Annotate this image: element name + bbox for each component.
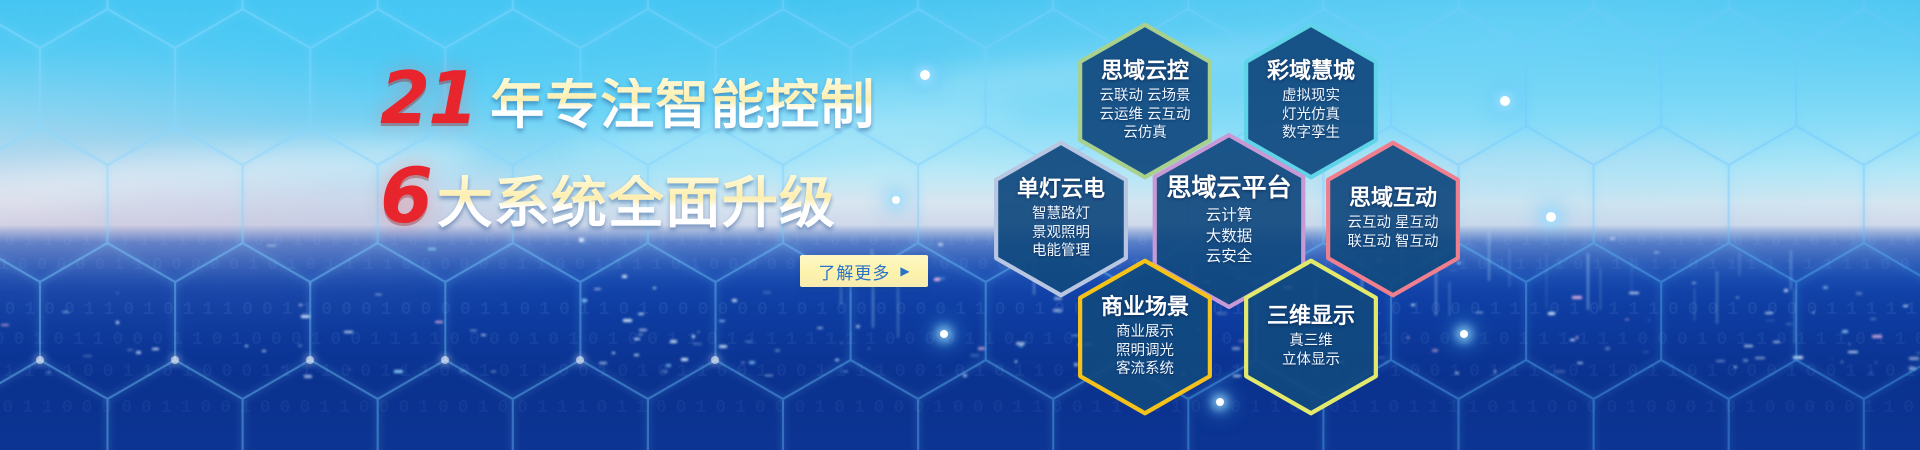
hex-card-shangye-changjing[interactable]: 商业场景商业展示照明调光客流系统 xyxy=(1076,258,1214,416)
hex-title: 思域互动 xyxy=(1347,186,1438,209)
headline-block: 21 年专注智能控制 6 大系统全面升级 xyxy=(380,62,1020,234)
hex-sub-line: 云联动 云场景 xyxy=(1099,87,1190,106)
headline-text-upgrade: 大系统全面升级 xyxy=(437,175,836,231)
hex-sub-lines: 真三维立体显示 xyxy=(1267,332,1355,370)
hex-sub-line: 景观照明 xyxy=(1017,224,1105,243)
headline-number-systems: 6 xyxy=(380,158,431,234)
hex-sub-line: 数字孪生 xyxy=(1267,124,1355,143)
hex-sub-line: 电能管理 xyxy=(1017,242,1105,261)
learn-more-button[interactable]: 了解更多 ▶ xyxy=(800,255,928,287)
hex-sub-line: 云互动 星互动 xyxy=(1347,214,1438,233)
play-arrow-icon: ▶ xyxy=(900,265,909,277)
network-node-dot xyxy=(1546,212,1556,222)
network-node-dot xyxy=(1460,330,1468,338)
hex-title: 商业场景 xyxy=(1101,295,1189,318)
network-node-dot xyxy=(940,330,948,338)
hex-sub-lines: 云互动 星互动联互动 智互动 xyxy=(1347,214,1438,252)
hex-sub-line: 云运维 云互动 xyxy=(1099,106,1190,125)
banner-stage: 0011100000100000000101111101001000000100… xyxy=(0,0,1920,450)
hex-sub-lines: 云计算大数据云安全 xyxy=(1166,206,1291,266)
hex-card-sanwei-xianshi[interactable]: 三维显示真三维立体显示 xyxy=(1242,258,1380,416)
hex-sub-lines: 虚拟现实灯光仿真数字孪生 xyxy=(1267,87,1355,144)
hex-sub-lines: 云联动 云场景云运维 云互动云仿真 xyxy=(1099,87,1190,144)
hex-sub-line: 联互动 智互动 xyxy=(1347,233,1438,252)
headline-number-years: 21 xyxy=(380,62,476,134)
network-node-dot xyxy=(892,196,900,204)
network-node-dot xyxy=(1500,96,1510,106)
hex-sub-line: 立体显示 xyxy=(1267,351,1355,370)
hex-sub-line: 云仿真 xyxy=(1099,124,1190,143)
hexagon-cluster: 思域云控云联动 云场景云运维 云互动云仿真彩域慧城虚拟现实灯光仿真数字孪生单灯云… xyxy=(980,0,1600,450)
hex-sub-lines: 智慧路灯景观照明电能管理 xyxy=(1017,205,1105,262)
hex-sub-line: 真三维 xyxy=(1267,332,1355,351)
headline-line-2: 6 大系统全面升级 xyxy=(380,158,1020,234)
hex-title: 三维显示 xyxy=(1267,304,1355,327)
network-node-dot xyxy=(1216,398,1224,406)
hex-sub-line: 云安全 xyxy=(1166,247,1291,267)
hex-sub-line: 智慧路灯 xyxy=(1017,205,1105,224)
hex-sub-lines: 商业展示照明调光客流系统 xyxy=(1101,323,1189,380)
hex-title: 思域云控 xyxy=(1099,59,1190,82)
hex-title: 思域云平台 xyxy=(1166,175,1291,201)
network-node-dot xyxy=(920,70,930,80)
learn-more-label: 了解更多 xyxy=(818,259,890,284)
hex-sub-line: 大数据 xyxy=(1166,227,1291,247)
headline-text-focus: 年专注智能控制 xyxy=(490,78,875,132)
hex-sub-line: 客流系统 xyxy=(1101,360,1189,379)
hex-title: 彩域慧城 xyxy=(1267,59,1355,82)
hex-sub-line: 云计算 xyxy=(1166,206,1291,226)
hex-sub-line: 商业展示 xyxy=(1101,323,1189,342)
hex-sub-line: 照明调光 xyxy=(1101,342,1189,361)
hex-sub-line: 虚拟现实 xyxy=(1267,87,1355,106)
hex-sub-line: 灯光仿真 xyxy=(1267,106,1355,125)
hex-title: 单灯云电 xyxy=(1017,177,1105,200)
